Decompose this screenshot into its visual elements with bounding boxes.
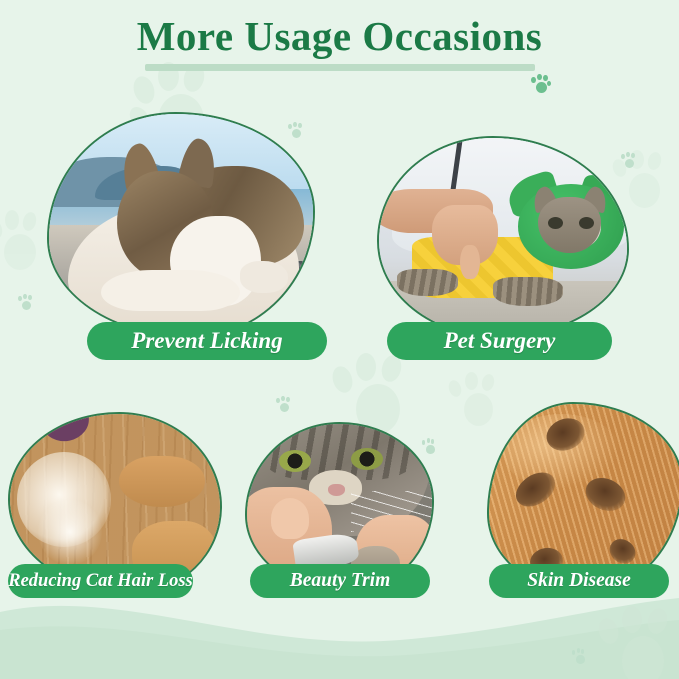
- title-underline: [145, 64, 535, 71]
- page-title-text: More Usage Occasions: [137, 14, 543, 59]
- label-skin-disease[interactable]: Skin Disease: [489, 564, 669, 598]
- occasion-card-prevent-licking: [47, 112, 311, 334]
- vet-exam-photo: [377, 136, 629, 338]
- label-text: Skin Disease: [527, 570, 630, 592]
- occasion-card-pet-surgery: [377, 136, 625, 334]
- label-text: Prevent Licking: [131, 328, 282, 354]
- label-pet-surgery[interactable]: Pet Surgery: [387, 322, 612, 360]
- infographic-canvas: More Usage Occasions Prevent Licking: [0, 0, 679, 679]
- occasion-card-skin-disease: [487, 402, 679, 590]
- label-reducing-cat-hair-loss[interactable]: Reducing Cat Hair Loss: [8, 564, 193, 598]
- page-title: More Usage Occasions: [0, 14, 679, 59]
- label-text: Reducing Cat Hair Loss: [8, 571, 193, 592]
- cat-grooming-photo: [47, 112, 315, 338]
- label-text: Beauty Trim: [290, 570, 391, 592]
- label-prevent-licking[interactable]: Prevent Licking: [87, 322, 327, 360]
- label-beauty-trim[interactable]: Beauty Trim: [250, 564, 430, 598]
- label-text: Pet Surgery: [444, 328, 556, 354]
